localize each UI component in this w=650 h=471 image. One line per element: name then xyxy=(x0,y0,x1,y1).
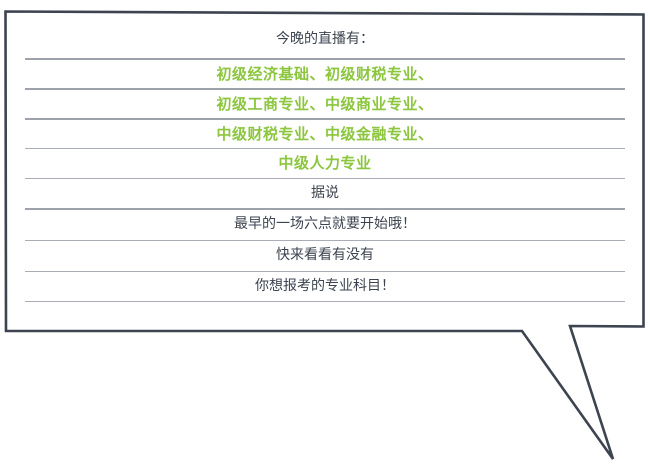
list-item: 初级经济基础、初级财税专业、 xyxy=(25,58,625,88)
list-item-label: 据说 xyxy=(311,186,339,201)
list-item-label: 中级人力专业 xyxy=(278,155,371,172)
list-item: 今晚的直播有： xyxy=(25,22,625,58)
list-item-label: 最早的一场六点就要开始哦！ xyxy=(234,217,416,232)
list-item: 你想报考的专业科目！ xyxy=(25,271,625,302)
list-item-label: 初级工商专业、中级商业专业、 xyxy=(216,96,433,113)
list-item-label: 你想报考的专业科目！ xyxy=(255,279,395,294)
list-item-label: 快来看看有没有 xyxy=(276,248,374,263)
list-item: 据说 xyxy=(25,178,625,208)
list-item: 快来看看有没有 xyxy=(25,240,625,271)
list-item-label: 今晚的直播有： xyxy=(276,32,374,47)
list-item: 中级财税专业、中级金融专业、 xyxy=(25,118,625,148)
list-item-label: 初级经济基础、初级财税专业、 xyxy=(216,66,433,83)
bubble-text-list: 今晚的直播有： 初级经济基础、初级财税专业、 初级工商专业、中级商业专业、 中级… xyxy=(25,22,625,322)
list-item: 最早的一场六点就要开始哦！ xyxy=(25,208,625,240)
list-item: 初级工商专业、中级商业专业、 xyxy=(25,88,625,118)
list-item: 中级人力专业 xyxy=(25,148,625,178)
speech-bubble-callout: 今晚的直播有： 初级经济基础、初级财税专业、 初级工商专业、中级商业专业、 中级… xyxy=(0,0,650,471)
list-item-label: 中级财税专业、中级金融专业、 xyxy=(216,126,433,143)
